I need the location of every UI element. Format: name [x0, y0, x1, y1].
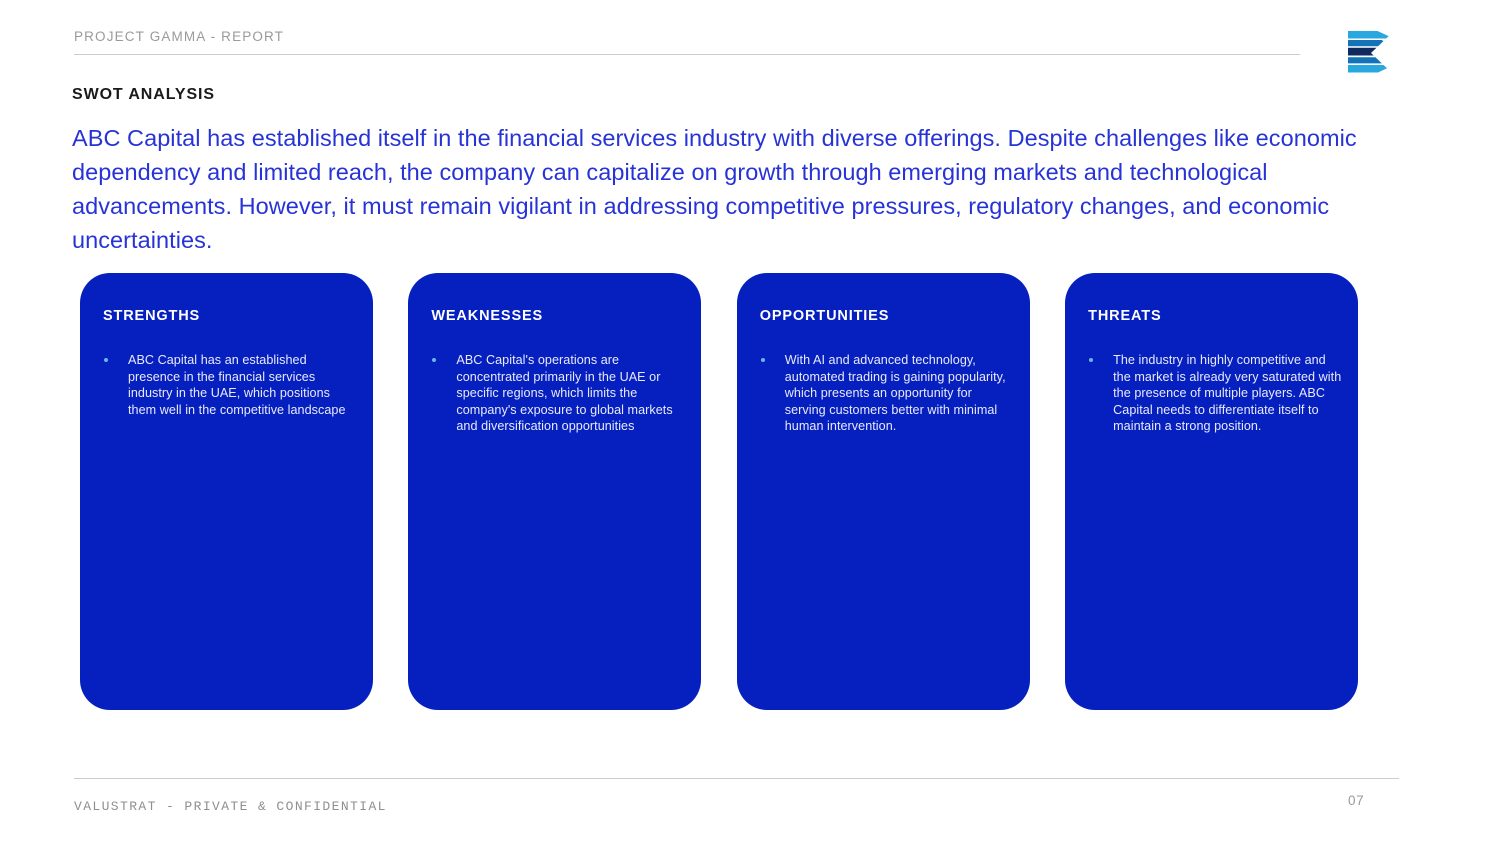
list-item: ABC Capital's operations are concentrate…: [424, 352, 687, 435]
page-number: 07: [1348, 793, 1364, 808]
list-item-text: ABC Capital has an established presence …: [128, 352, 359, 418]
swot-card-opportunities[interactable]: OPPORTUNITIES With AI and advanced techn…: [737, 273, 1030, 710]
footer-confidentiality-notice: VALUSTRAT - PRIVATE & CONFIDENTIAL: [74, 799, 387, 814]
swot-card-bullet-list: The industry in highly competitive and t…: [1081, 352, 1344, 435]
header-divider: [74, 54, 1300, 55]
bullet-dot-icon: [1081, 352, 1113, 362]
list-item: The industry in highly competitive and t…: [1081, 352, 1344, 435]
swot-card-bullet-list: ABC Capital's operations are concentrate…: [424, 352, 687, 435]
page-title: SWOT ANALYSIS: [72, 86, 215, 104]
swot-card-title: THREATS: [1088, 308, 1161, 324]
list-item-text: The industry in highly competitive and t…: [1113, 352, 1344, 435]
bullet-dot-icon: [753, 352, 785, 362]
swot-card-bullet-list: ABC Capital has an established presence …: [96, 352, 359, 418]
header-eyebrow: PROJECT GAMMA - REPORT: [74, 29, 284, 44]
swot-card-bullet-list: With AI and advanced technology, automat…: [753, 352, 1016, 435]
swot-card-title: WEAKNESSES: [431, 308, 543, 324]
swot-card-grid: STRENGTHS ABC Capital has an established…: [80, 273, 1358, 710]
swot-card-title: STRENGTHS: [103, 308, 200, 324]
list-item: ABC Capital has an established presence …: [96, 352, 359, 418]
list-item-text: ABC Capital's operations are concentrate…: [456, 352, 687, 435]
footer-divider: [74, 778, 1399, 779]
bullet-dot-icon: [424, 352, 456, 362]
valustrat-chevron-logo-icon: [1348, 31, 1394, 75]
list-item-text: With AI and advanced technology, automat…: [785, 352, 1016, 435]
list-item: With AI and advanced technology, automat…: [753, 352, 1016, 435]
bullet-dot-icon: [96, 352, 128, 362]
slide-canvas: PROJECT GAMMA - REPORT SWOT ANALYSIS ABC…: [0, 0, 1500, 844]
swot-card-title: OPPORTUNITIES: [760, 308, 889, 324]
swot-card-threats[interactable]: THREATS The industry in highly competiti…: [1065, 273, 1358, 710]
intro-paragraph: ABC Capital has established itself in th…: [72, 121, 1357, 257]
swot-card-strengths[interactable]: STRENGTHS ABC Capital has an established…: [80, 273, 373, 710]
swot-card-weaknesses[interactable]: WEAKNESSES ABC Capital's operations are …: [408, 273, 701, 710]
